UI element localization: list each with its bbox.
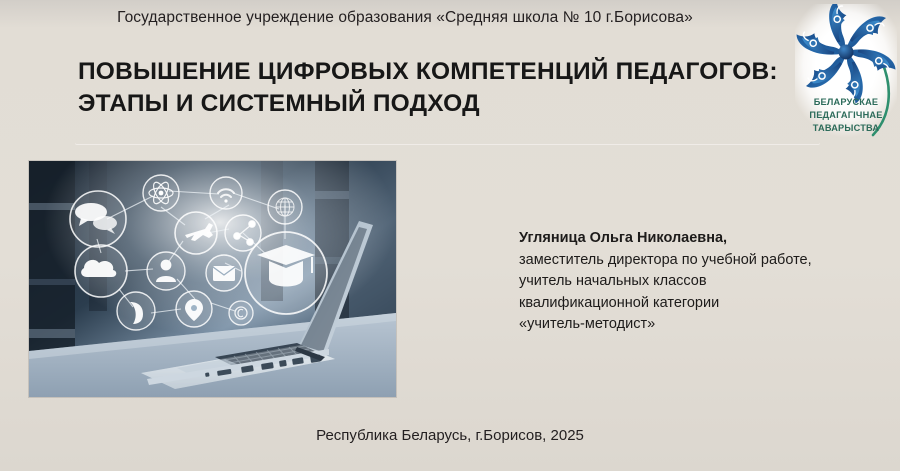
- slide-footer: Республика Беларусь, г.Борисов, 2025: [0, 427, 900, 444]
- logo: БЕЛАРУСКАЕ ПЕДАГАГІЧНАЕ ТАВАРЫСТВА: [795, 4, 897, 156]
- logo-text-line-2: ПЕДАГАГІЧНАЕ: [809, 110, 882, 120]
- organization-header: Государственное учреждение образования «…: [0, 9, 900, 27]
- title-line-2: ЭТАПЫ И СИСТЕМНЫЙ ПОДХОД: [78, 88, 778, 120]
- author-position-line-3: квалификационной категории: [519, 293, 879, 315]
- slide-photo: [29, 161, 396, 397]
- title-line-1: ПОВЫШЕНИЕ ЦИФРОВЫХ КОМПЕТЕНЦИЙ ПЕДАГОГОВ…: [78, 58, 778, 85]
- logo-text-line-1: БЕЛАРУСКАЕ: [814, 97, 879, 107]
- presentation-slide: Государственное учреждение образования «…: [0, 0, 900, 471]
- title-divider-rule: [75, 140, 820, 144]
- author-position-line-2: учитель начальных классов: [519, 271, 879, 293]
- author-name: Угляница Ольга Николаевна,: [519, 228, 879, 250]
- laptop-digital-network-illustration: [29, 161, 396, 397]
- logo-text-line-3: ТАВАРЫСТВА: [813, 123, 880, 133]
- author-position-line-4: «учитель-методист»: [519, 314, 879, 336]
- page-title: ПОВЫШЕНИЕ ЦИФРОВЫХ КОМПЕТЕНЦИЙ ПЕДАГОГОВ…: [78, 56, 778, 120]
- author-block: Угляница Ольга Николаевна, заместитель д…: [519, 228, 879, 336]
- belarusian-pedagogical-society-icon: БЕЛАРУСКАЕ ПЕДАГАГІЧНАЕ ТАВАРЫСТВА: [795, 4, 897, 156]
- author-position-line-1: заместитель директора по учебной работе,: [519, 250, 879, 272]
